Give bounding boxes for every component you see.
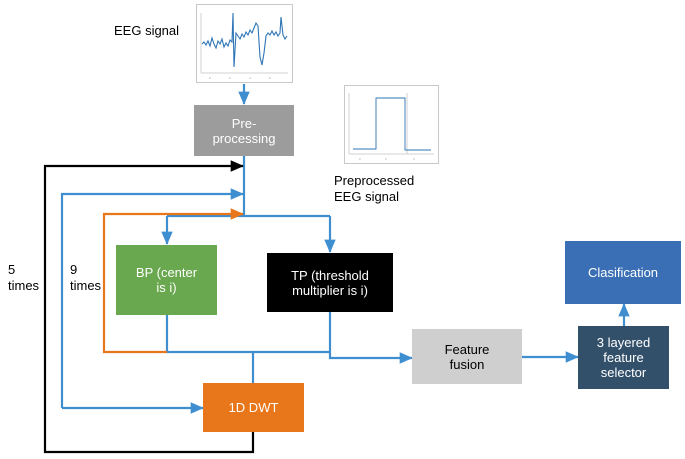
node-classification[interactable]: Clasification (565, 241, 681, 304)
label-nine-times: 9 times (70, 262, 101, 294)
wire-tp-to-fusion (330, 352, 412, 358)
node-feature-selector[interactable]: 3 layered feature selector (578, 326, 669, 389)
node-preprocessing[interactable]: Pre- processing (194, 105, 294, 156)
node-dwt[interactable]: 1D DWT (203, 383, 304, 432)
flow-diagram: 02 46 024 (0, 0, 685, 459)
node-bp[interactable]: BP (center is i) (116, 245, 217, 315)
label-preprocessed-eeg-signal: Preprocessed EEG signal (334, 173, 414, 205)
label-eeg-signal: EEG signal (114, 23, 179, 39)
node-tp[interactable]: TP (threshold multiplier is i) (267, 253, 393, 312)
node-feature-fusion[interactable]: Feature fusion (412, 329, 522, 384)
label-five-times: 5 times (8, 262, 39, 294)
connector-layer (0, 0, 685, 459)
